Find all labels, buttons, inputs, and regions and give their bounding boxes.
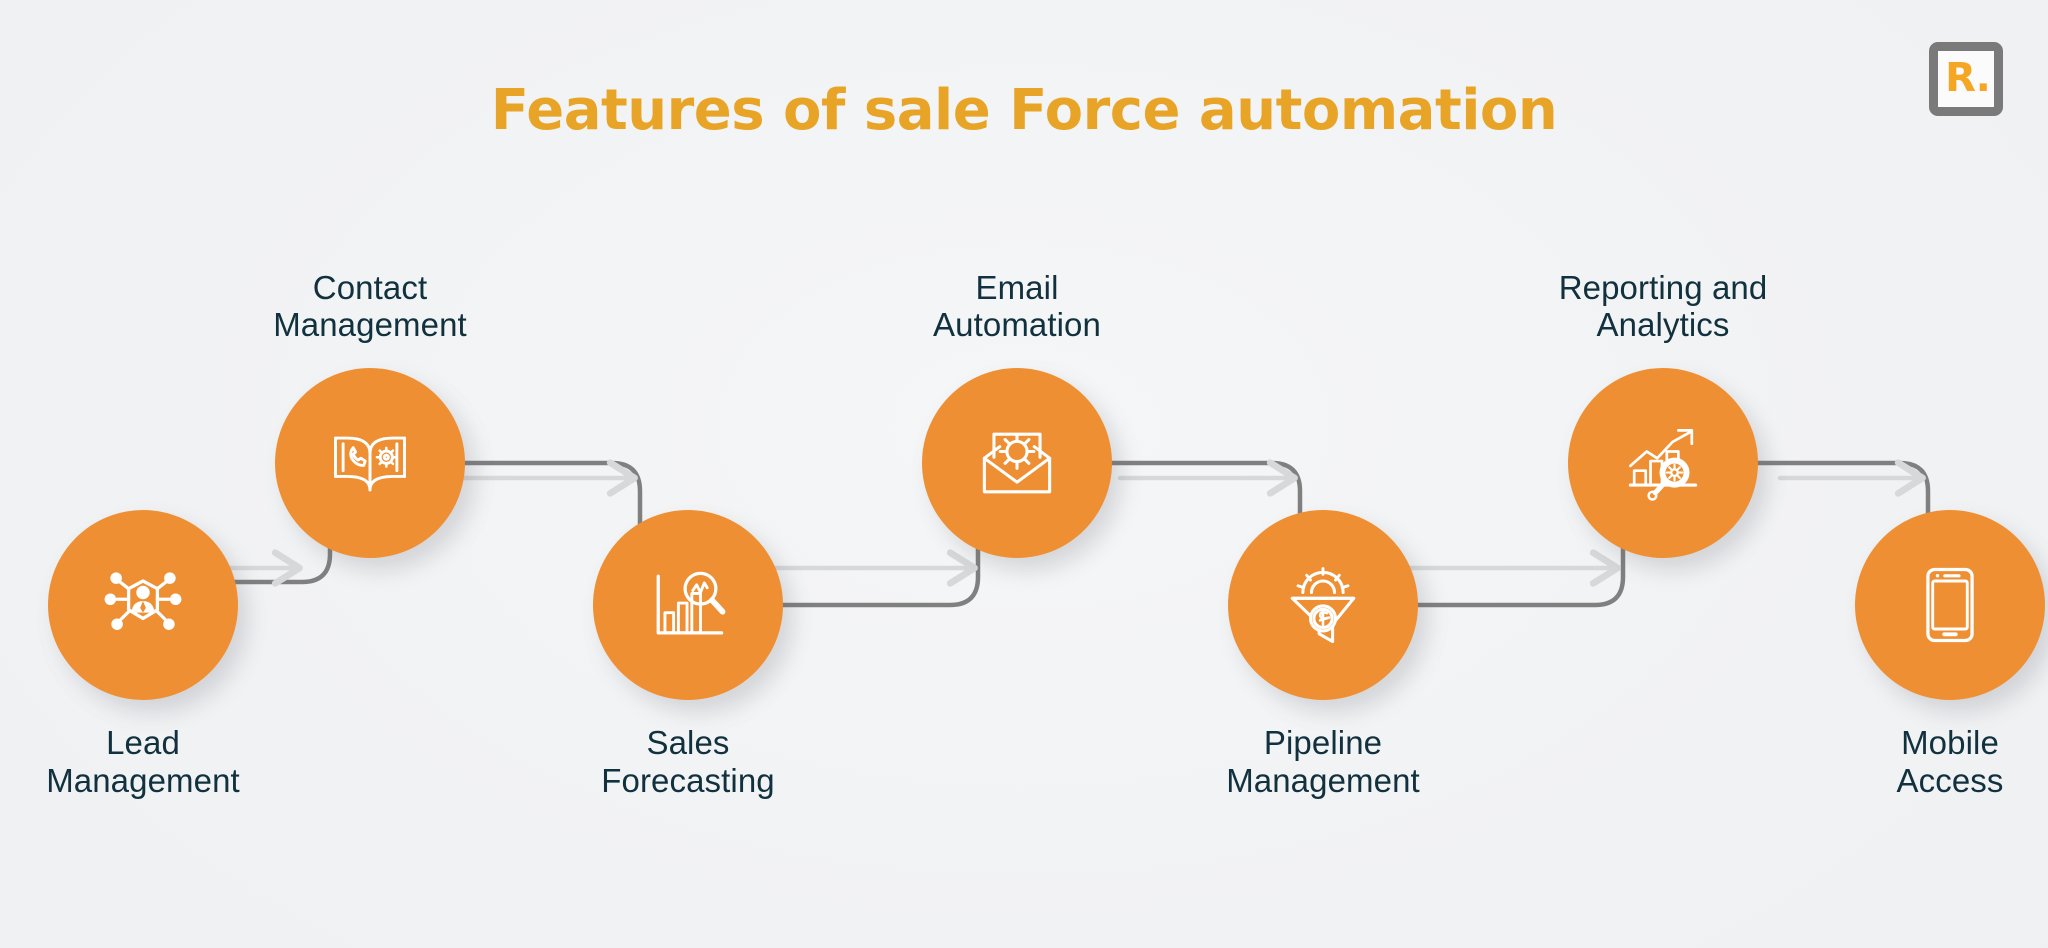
open-book-phone-gear-icon (322, 415, 418, 511)
flow-node-label: Mobile Access (1770, 724, 2048, 799)
funnel-gear-dollar-coin-icon (1275, 557, 1371, 653)
flow-node-email-automation[interactable]: Email Automation (922, 368, 1112, 558)
node-bubble[interactable] (1228, 510, 1418, 700)
open-envelope-gear-icon (969, 415, 1065, 511)
flow-node-label: Pipeline Management (1143, 724, 1503, 799)
tablet-device-icon (1902, 557, 1998, 653)
node-bubble[interactable] (275, 368, 465, 558)
process-flow-diagram: Lead Management (0, 0, 2048, 948)
flow-node-pipeline-management[interactable]: Pipeline Management (1228, 510, 1418, 700)
flow-node-label: Reporting and Analytics (1483, 269, 1843, 344)
slide-canvas: R. Features of sale Force automation (0, 0, 2048, 948)
flow-node-contact-management[interactable]: Contact Management (275, 368, 465, 558)
flow-node-sales-forecasting[interactable]: Sales Forecasting (593, 510, 783, 700)
flow-node-reporting-analytics[interactable]: Reporting and Analytics (1568, 368, 1758, 558)
node-bubble[interactable] (593, 510, 783, 700)
growth-chart-magnifier-gear-icon (1615, 415, 1711, 511)
node-bubble[interactable] (48, 510, 238, 700)
node-bubble[interactable] (1568, 368, 1758, 558)
node-bubble[interactable] (1855, 510, 2045, 700)
bar-chart-magnifier-trend-icon (640, 557, 736, 653)
network-nodes-person-icon (95, 557, 191, 653)
flow-node-label: Contact Management (190, 269, 550, 344)
node-bubble[interactable] (922, 368, 1112, 558)
flow-node-lead-management[interactable]: Lead Management (48, 510, 238, 700)
flow-node-label: Email Automation (837, 269, 1197, 344)
flow-node-label: Sales Forecasting (508, 724, 868, 799)
flow-node-mobile-access[interactable]: Mobile Access (1855, 510, 2045, 700)
flow-node-label: Lead Management (0, 724, 323, 799)
